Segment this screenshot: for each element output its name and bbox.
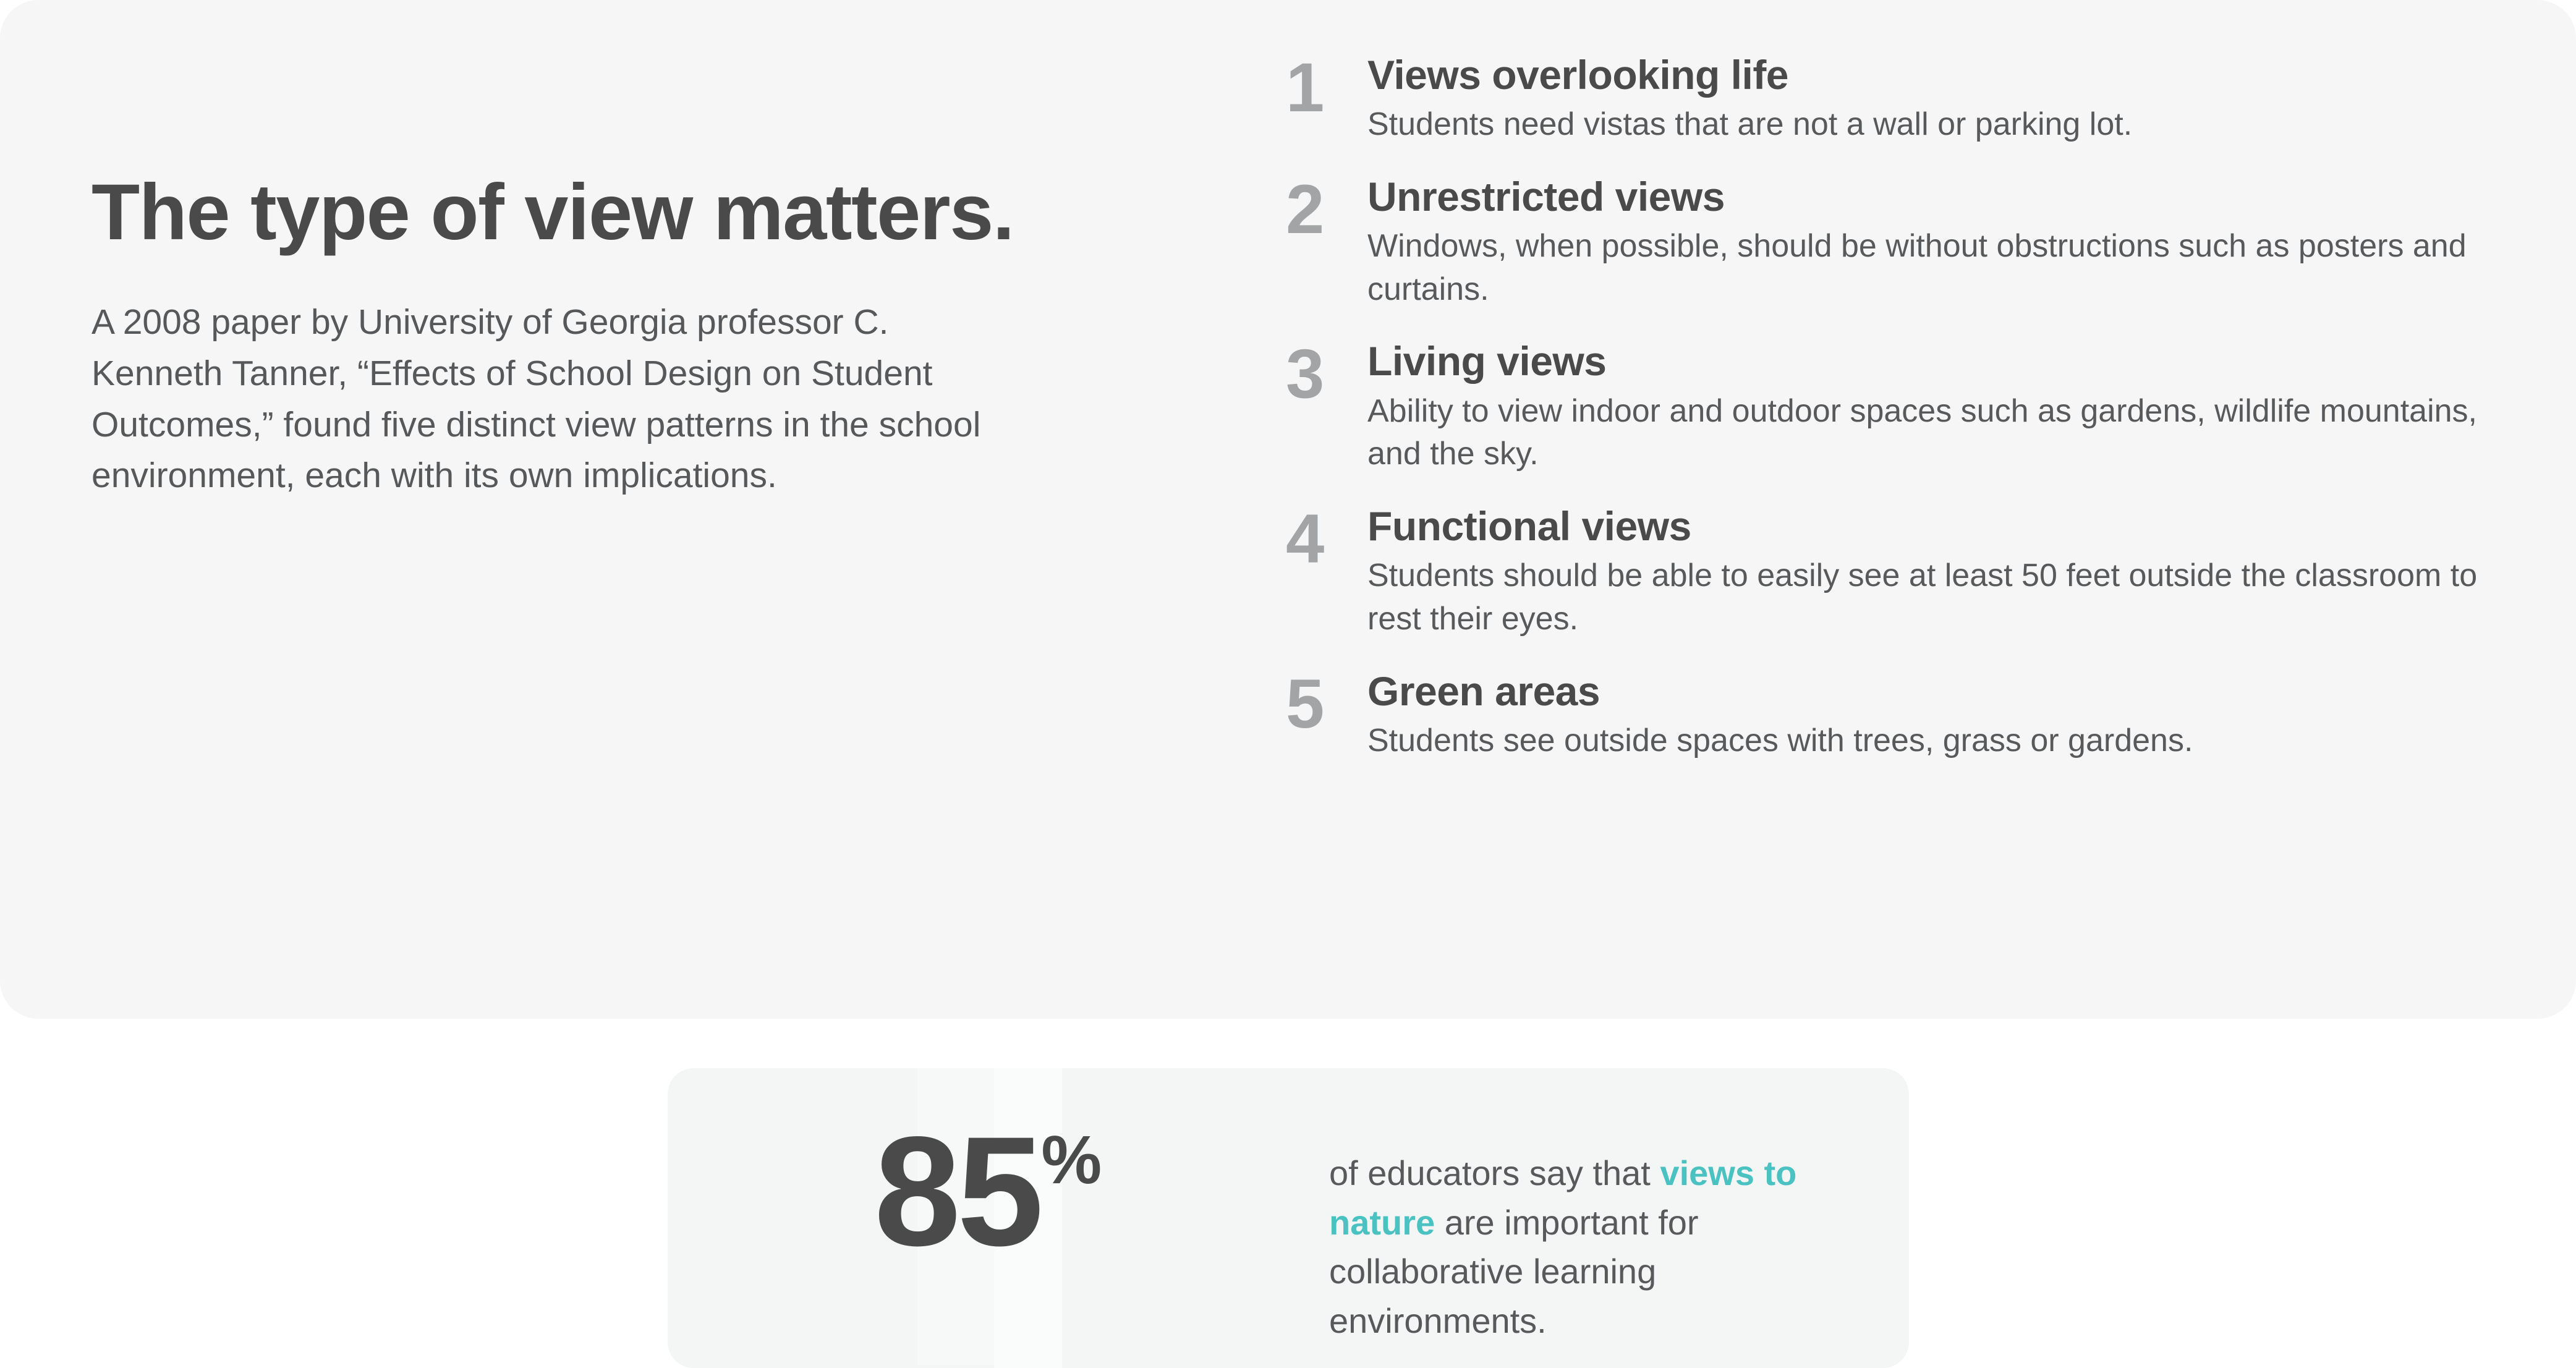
- intro-column: The type of view matters. A 2008 paper b…: [91, 167, 1056, 501]
- infographic-root: The type of view matters. A 2008 paper b…: [0, 0, 2576, 1368]
- list-item-title: Views overlooking life: [1367, 52, 2497, 98]
- list-item-body: Functional views Students should be able…: [1367, 502, 2497, 641]
- statistic-card-inner: 85 % of educators say that views to natu…: [668, 1068, 1909, 1368]
- list-item-title: Functional views: [1367, 503, 2497, 550]
- list-item-title: Green areas: [1367, 668, 2497, 715]
- list-item: 3 Living views Ability to view indoor an…: [1286, 337, 2497, 476]
- list-item-number: 2: [1286, 172, 1367, 244]
- statistic-value: 85: [874, 1120, 1040, 1264]
- list-item-title: Living views: [1367, 338, 2497, 384]
- list-item-body: Views overlooking life Students need vis…: [1367, 51, 2497, 147]
- list-item-body: Living views Ability to view indoor and …: [1367, 337, 2497, 476]
- list-item-description: Students need vistas that are not a wall…: [1367, 103, 2497, 147]
- page-title: The type of view matters.: [91, 167, 1056, 258]
- statistic-card: 85 % of educators say that views to natu…: [668, 1068, 1909, 1368]
- intro-paragraph: A 2008 paper by University of Georgia pr…: [91, 297, 1000, 501]
- list-item: 2 Unrestricted views Windows, when possi…: [1286, 172, 2497, 312]
- view-patterns-list: 1 Views overlooking life Students need v…: [1286, 51, 2497, 763]
- list-item-title: Unrestricted views: [1367, 174, 2497, 220]
- list-item-body: Unrestricted views Windows, when possibl…: [1367, 172, 2497, 312]
- statistic-value-group: 85 %: [874, 1120, 1102, 1264]
- statistic-description: of educators say that views to nature ar…: [1329, 1149, 1879, 1345]
- percent-sign: %: [1041, 1126, 1102, 1194]
- list-item-number: 1: [1286, 51, 1367, 122]
- statistic-text-before: of educators say that: [1329, 1153, 1660, 1192]
- list-item: 4 Functional views Students should be ab…: [1286, 502, 2497, 641]
- list-item-description: Students see outside spaces with trees, …: [1367, 720, 2497, 763]
- list-item-description: Windows, when possible, should be withou…: [1367, 225, 2497, 311]
- list-item-number: 3: [1286, 337, 1367, 409]
- list-item-number: 4: [1286, 502, 1367, 574]
- list-item-number: 5: [1286, 667, 1367, 739]
- list-item: 1 Views overlooking life Students need v…: [1286, 51, 2497, 147]
- list-item-body: Green areas Students see outside spaces …: [1367, 667, 2497, 763]
- list-item-description: Ability to view indoor and outdoor space…: [1367, 390, 2497, 476]
- list-item: 5 Green areas Students see outside space…: [1286, 667, 2497, 763]
- list-item-description: Students should be able to easily see at…: [1367, 554, 2497, 640]
- main-panel: The type of view matters. A 2008 paper b…: [0, 0, 2576, 1019]
